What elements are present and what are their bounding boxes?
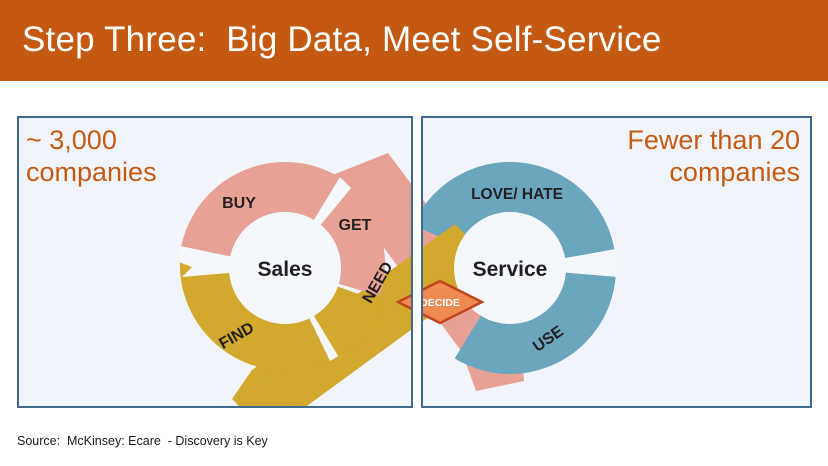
page-title: Step Three: Big Data, Meet Self-Service: [22, 20, 662, 60]
title-bar: Step Three: Big Data, Meet Self-Service: [0, 0, 828, 81]
caption-right-companies: Fewer than 20 companies: [560, 124, 800, 188]
caption-left-companies: ~ 3,000 companies: [26, 124, 246, 188]
source-note: Source: McKinsey: Ecare - Discovery is K…: [17, 434, 268, 448]
